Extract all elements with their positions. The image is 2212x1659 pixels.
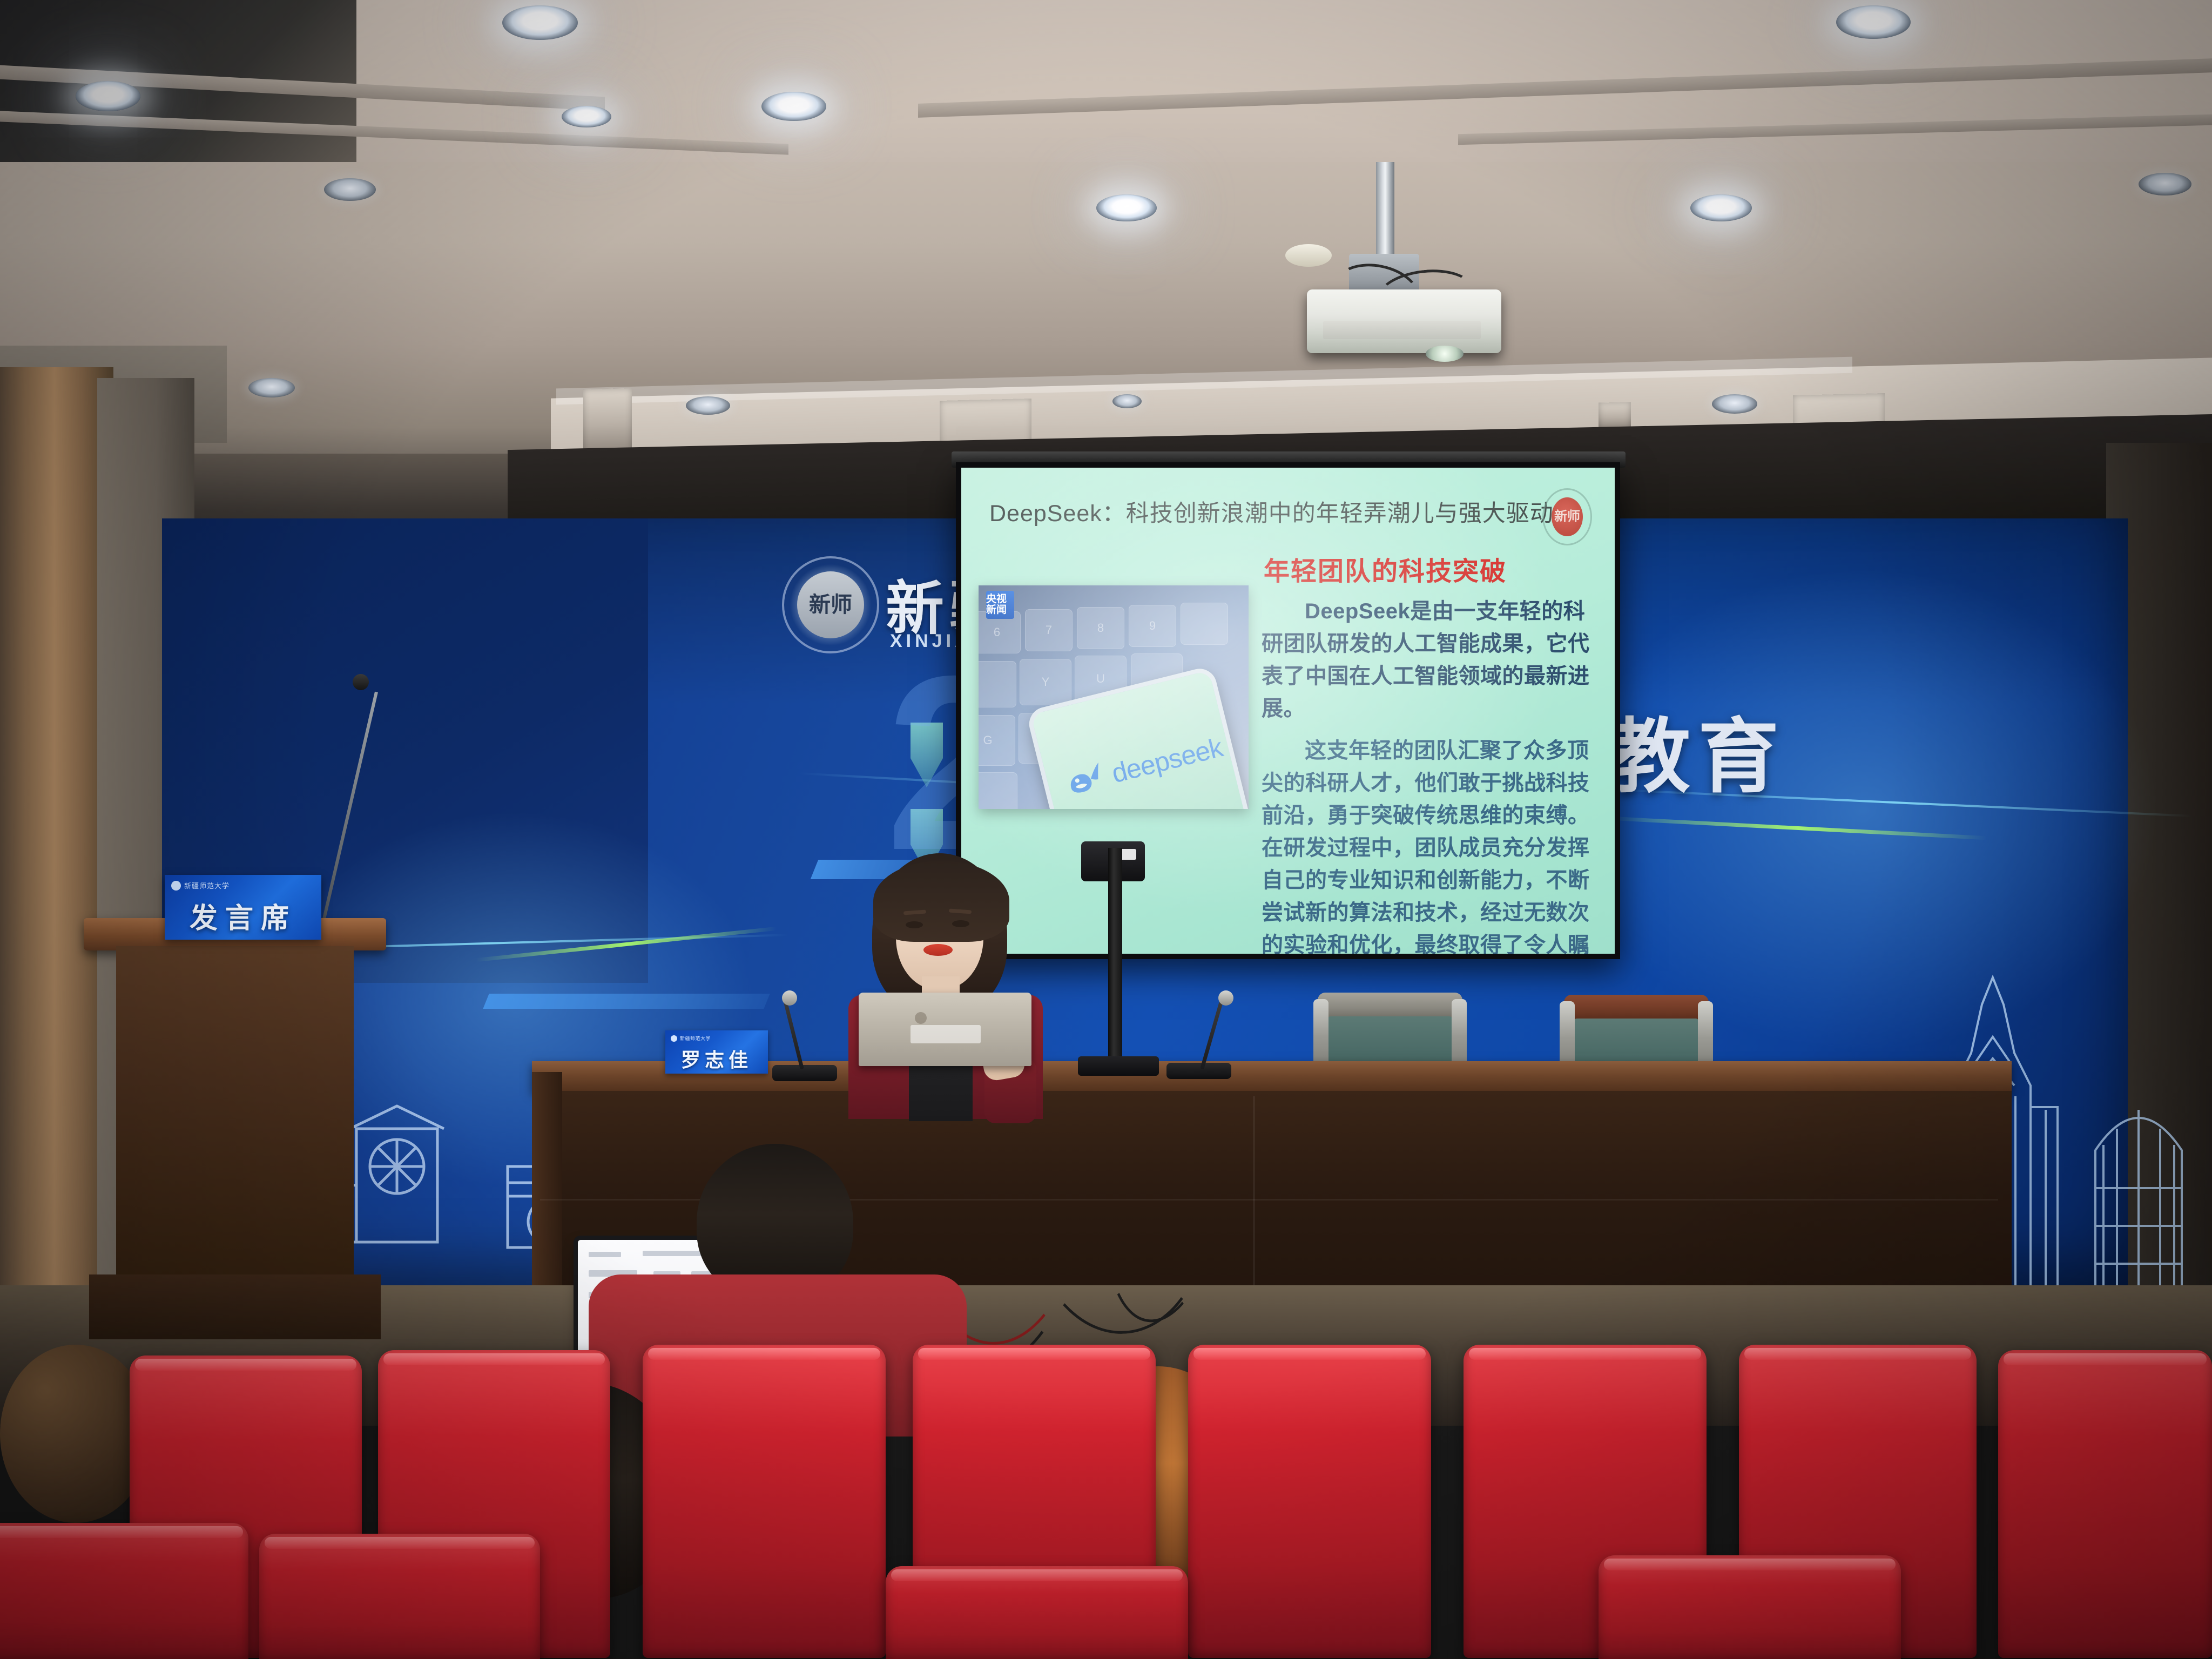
podium-sign-logo-icon [171,881,181,891]
microphone-head [1218,990,1233,1006]
keyboard-key: Y [1020,659,1071,705]
university-logo: 新师 [782,556,879,653]
cctv-news-watermark: 央视新闻 [986,591,1014,619]
audience-seat-front [0,1523,248,1659]
slide-heading: 年轻团队的科技突破 [1264,550,1507,588]
camera-tripod-base [1078,1056,1159,1076]
audience-head [0,1345,151,1523]
keyboard-key [979,772,1017,809]
ceiling-light [1690,194,1752,221]
ceiling-sprinkler-plate [1599,402,1631,429]
placard-logo-icon [671,1035,677,1042]
placard-logo-text: 新疆师范大学 [680,1035,711,1042]
projector-ports [1323,321,1481,339]
presenter-eye [906,921,923,928]
laptop-emblem-icon [915,1012,927,1024]
keyboard-key: G [979,715,1015,766]
keyboard-key: 7 [1025,609,1073,651]
keyboard-key [979,661,1016,707]
audience-seat-front [1599,1555,1901,1659]
placard-logo: 新疆师范大学 [671,1035,711,1042]
deepseek-logo: deepseek [1063,731,1226,801]
ceiling-light [562,106,611,127]
ceiling-light [76,81,140,111]
university-logo-glyphs: 新师 [797,571,864,638]
podium-sign-logo: 新疆师范大学 [171,880,230,891]
slide-embedded-photo: 6 7 8 9 Y U G H 央视新闻 d [979,585,1249,809]
backdrop-headline: 教育 [1609,691,1786,808]
keyboard-key [1181,603,1228,645]
placard-name-text: 罗志佳 [665,1044,768,1073]
laptop-label [911,1025,981,1043]
audience-seat [1188,1345,1431,1658]
podium-sign: 新疆师范大学 发言席 [165,875,321,940]
deepseek-wordmark: deepseek [1109,732,1226,790]
microphone-base [1166,1063,1231,1079]
podium-base [89,1274,381,1339]
podium-body [116,946,354,1281]
ceiling-light [502,5,578,40]
slide-title: DeepSeek：科技创新浪潮中的年轻弄潮儿与强大驱动力 [989,495,1577,528]
podium-sign-text: 发言席 [165,895,321,936]
ceiling-light [248,378,295,397]
ceiling-light [1096,194,1157,221]
slide-paragraph-2: 这支年轻的团队汇聚了众多顶尖的科研人才，他们敢于挑战科技前沿，勇于突破传统思维的… [1262,734,1590,954]
podium-sign-logo-text: 新疆师范大学 [184,880,230,891]
deepseek-whale-icon [1063,760,1109,802]
smoke-detector [1285,244,1332,267]
ceiling-vent [583,388,632,454]
podium: 新疆师范大学 发言席 [84,918,386,1339]
camera-tripod-pole [1108,848,1122,1075]
projector-lens [1426,346,1464,362]
audience-seat-front [259,1534,540,1659]
backdrop-bar [483,994,770,1009]
presenter-eye [952,920,969,927]
audience-seat [643,1345,886,1658]
name-placard: 新疆师范大学 罗志佳 [665,1030,768,1074]
screen-line [589,1252,621,1257]
slide-seal-icon: 新师 [1542,488,1592,545]
slide-seal-glyphs: 新师 [1552,497,1583,536]
audience-seat-front [886,1566,1188,1659]
ceiling-light [761,92,826,121]
slide-paragraph-1: DeepSeek是由一支年轻的科研团队研发的人工智能成果，它代表了中国在人工智能… [1262,595,1590,725]
ceiling-light [2139,173,2191,195]
ceiling-light [686,396,730,415]
ceiling-light [1112,394,1142,408]
slide-body-text: DeepSeek是由一支年轻的科研团队研发的人工智能成果，它代表了中国在人工智能… [1262,595,1590,954]
ceiling-light [1712,394,1757,414]
presenter-hair-front [873,861,1009,942]
audience-seat [1998,1350,2212,1658]
microphone-head [782,990,797,1006]
keyboard-key: 9 [1129,605,1176,647]
keyboard-key: 8 [1077,607,1124,649]
ceiling-light [1836,5,1911,39]
presenter-lips [923,944,953,956]
ceiling-light [324,178,376,201]
conference-hall-photo: 2 新师 新疆师范大学 XINJIANG NORMAL UNIVERSITY 教… [0,0,2212,1659]
podium-microphone-head [353,674,369,690]
